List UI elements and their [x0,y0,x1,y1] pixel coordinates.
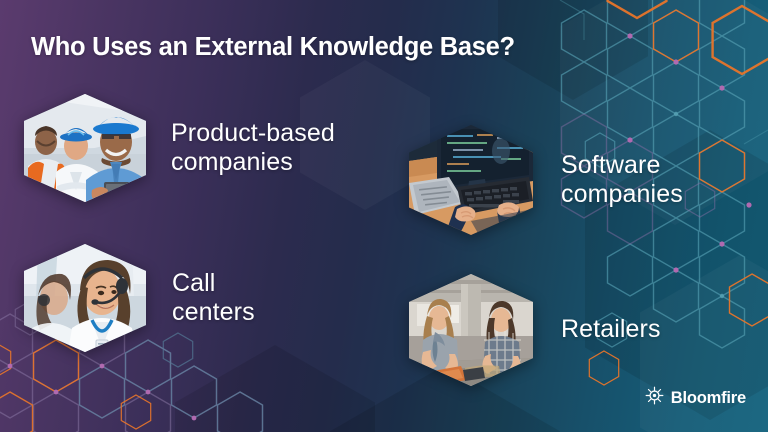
list-item-label: Call centers [172,269,255,328]
hexagon-image-frame [409,125,533,235]
list-item-label: Software companies [561,151,683,210]
list-item-call-centers: Call centers [24,244,255,352]
bloomfire-logo: Bloomfire [645,386,746,410]
list-item-label: Retailers [561,315,661,345]
list-item-product-based-companies: Product-based companies [24,94,335,202]
page-title: Who Uses an External Knowledge Base? [31,33,515,62]
call-center-agent-photo [24,244,146,352]
bloomfire-wordmark: Bloomfire [671,389,746,408]
hexagon-image-frame [409,274,533,386]
slide-canvas: Who Uses an External Knowledge Base? [0,0,768,432]
industrial-workers-hardhats-photo [24,94,146,202]
hexagon-image-frame [24,244,146,352]
list-item-software-companies: Software companies [409,125,683,235]
developer-at-desk-photo [409,125,533,235]
list-item-retailers: Retailers [409,274,661,386]
list-item-label: Product-based companies [171,119,335,178]
bloomfire-starburst-icon [645,386,664,410]
retail-shop-counter-photo [409,274,533,386]
hexagon-image-frame [24,94,146,202]
